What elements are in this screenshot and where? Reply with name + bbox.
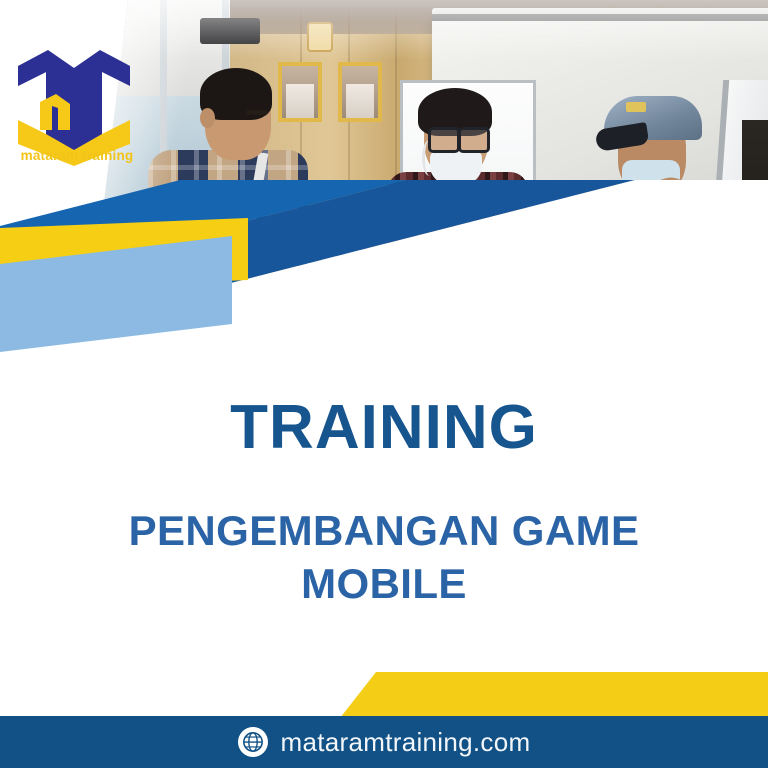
page-subtitle-line-1: PENGEMBANGAN GAME — [60, 505, 708, 558]
footer-website-url[interactable]: mataramtraining.com — [281, 727, 531, 758]
footer-content: mataramtraining.com — [238, 727, 531, 758]
footer-yellow-accent — [0, 672, 768, 718]
globe-icon — [238, 727, 268, 757]
wall-portrait — [338, 62, 382, 122]
footer-bar: mataramtraining.com — [0, 716, 768, 768]
cap-logo — [626, 102, 646, 112]
wall-portrait — [278, 62, 322, 122]
page-title: TRAINING — [0, 392, 768, 463]
eyeglass-lens-left — [428, 127, 460, 153]
logo-wordmark: mataram training — [14, 148, 140, 163]
page-subtitle: PENGEMBANGAN GAME MOBILE — [60, 505, 708, 611]
page-subtitle-line-2: MOBILE — [60, 558, 708, 611]
poster-canvas: mataram training TRAINING PENGEMBANGAN G… — [0, 0, 768, 768]
face-mask — [430, 150, 482, 184]
eyeglass-lens-right — [458, 127, 490, 153]
